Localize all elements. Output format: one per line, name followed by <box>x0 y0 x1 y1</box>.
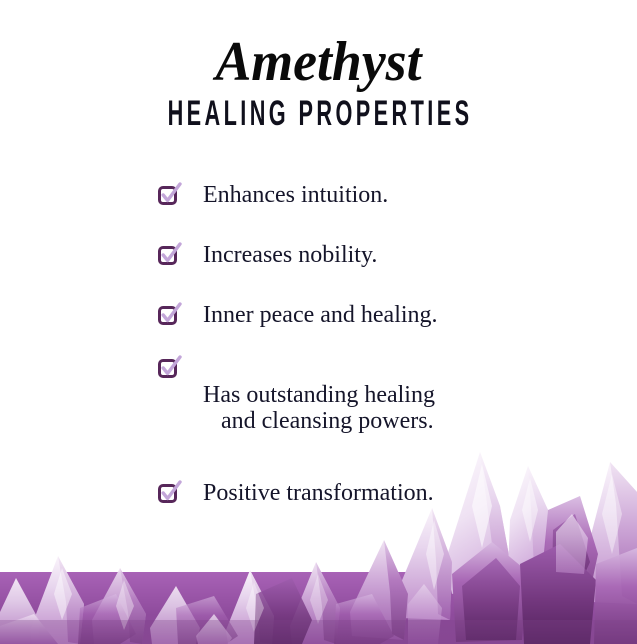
page-title: Amethyst <box>13 0 625 90</box>
checkbox-checked-icon <box>158 358 181 381</box>
list-item: Positive transformation. <box>158 480 578 507</box>
list-item: Increases nobility. <box>158 242 578 269</box>
checkbox-checked-icon <box>158 305 181 328</box>
checkbox-checked-icon <box>158 483 181 506</box>
list-item-label: Increases nobility. <box>181 242 578 269</box>
amethyst-healing-properties-poster: Amethyst HEALING PROPERTIES Enhances int… <box>0 0 637 644</box>
checkbox-checked-icon <box>158 245 181 268</box>
list-item-label-group: Has outstanding healing and cleansing po… <box>181 355 578 463</box>
poster-header: Amethyst HEALING PROPERTIES <box>0 0 637 131</box>
list-item: Has outstanding healing and cleansing po… <box>158 355 578 463</box>
checkbox-checked-icon <box>158 185 181 208</box>
list-item: Enhances intuition. <box>158 182 578 209</box>
list-item-label: Enhances intuition. <box>181 182 578 209</box>
page-subtitle: HEALING PROPERTIES <box>121 90 516 131</box>
list-item-label: Inner peace and healing. <box>181 302 578 329</box>
list-item-label-line1: Has outstanding healing <box>203 382 435 408</box>
list-item-label: Positive transformation. <box>181 480 578 507</box>
healing-properties-checklist: Enhances intuition. Increases nobility. … <box>158 182 578 540</box>
list-item: Inner peace and healing. <box>158 302 578 329</box>
list-item-label-line2: and cleansing powers. <box>203 408 578 435</box>
